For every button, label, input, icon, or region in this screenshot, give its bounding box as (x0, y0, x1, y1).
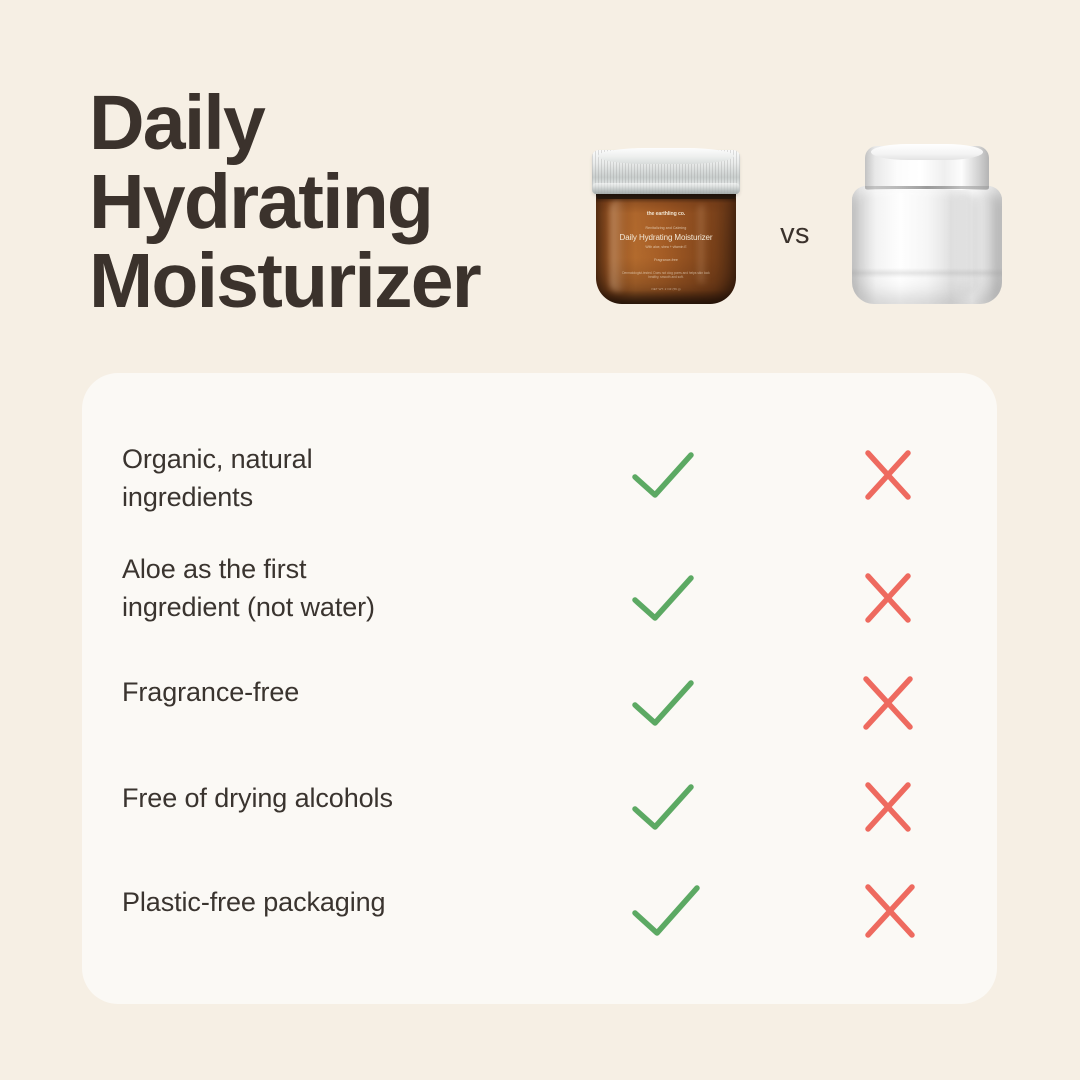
competitor-jar-seam (865, 186, 989, 189)
competitor-jar-shading (948, 192, 978, 296)
row-label: Aloe as the first ingredient (not water) (122, 550, 462, 626)
row-label: Fragrance-free (122, 673, 462, 711)
cross-icon (852, 445, 924, 510)
check-icon (627, 568, 699, 633)
check-icon (627, 777, 699, 842)
label-volume: NET WT. 2 OZ (56 g) (618, 287, 714, 291)
label-claim: Fragrance-free (618, 258, 714, 262)
cross-icon (852, 568, 924, 633)
row-label: Free of drying alcohols (122, 779, 462, 817)
check-icon (627, 445, 699, 510)
row-label: Organic, natural ingredients (122, 440, 462, 516)
cross-icon (852, 879, 930, 948)
label-size: With aloe, shea + vitamin E (618, 245, 714, 249)
label-product-name: Daily Hydrating Moisturizer (618, 233, 714, 242)
row-label: Plastic-free packaging (122, 883, 462, 921)
jar-label: the earthling co. Revitalizing and Calmi… (618, 212, 714, 291)
check-icon (627, 673, 699, 738)
brand-logo: the earthling co. (618, 212, 714, 218)
versus-label: vs (760, 218, 830, 251)
competitor-jar-waist (852, 268, 1002, 278)
label-description: Dermatologist-tested. Does not clog pore… (618, 271, 714, 279)
page-title: Daily Hydrating Moisturizer (89, 84, 559, 321)
competitor-jar-body (852, 186, 1002, 304)
label-eyebrow: Revitalizing and Calming (618, 226, 714, 230)
cross-icon (852, 777, 924, 842)
header: Daily Hydrating Moisturizer the earthlin… (0, 0, 1080, 360)
check-icon (627, 879, 705, 948)
product-comparison-visual: the earthling co. Revitalizing and Calmi… (570, 140, 1020, 320)
cross-icon (852, 673, 924, 738)
product-jar-theirs-image (852, 146, 1002, 304)
comparison-card: Organic, natural ingredients Aloe as the… (82, 373, 997, 1004)
product-jar-ours-image: the earthling co. Revitalizing and Calmi… (592, 146, 740, 304)
competitor-jar-lid-top-face (871, 144, 983, 160)
jar-lid-ring (593, 183, 739, 194)
jar-lid-top-face (598, 148, 734, 164)
